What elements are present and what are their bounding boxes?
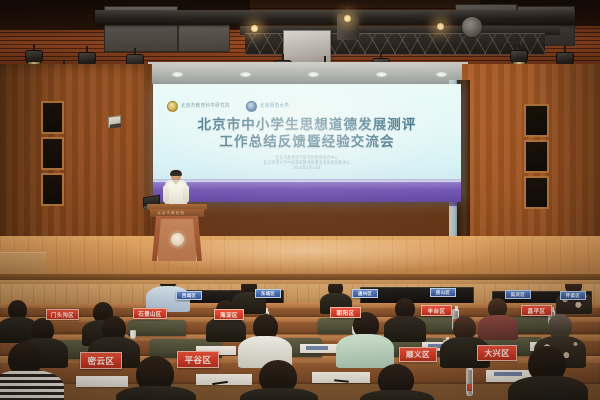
lighting-truss: [95, 10, 575, 25]
projection-screen: 北京市教育科学研究院 北京师范大学 北京市中小学生思想道德发展测评 工作总结反馈…: [153, 84, 461, 202]
district-placard-label: 东城区: [261, 291, 275, 297]
district-placard-label: 石景山区: [138, 310, 161, 318]
screen-bottom-band: [153, 182, 461, 202]
district-placard-label: 通州区: [358, 291, 372, 297]
title-line-1: 北京市中小学生思想道德发展测评: [153, 117, 461, 134]
ceiling-lamp-icon: [436, 22, 445, 31]
institute-seal-icon: [167, 101, 178, 112]
district-placard: 东城区: [255, 289, 281, 298]
rig-disc-fixture: [461, 16, 483, 38]
logo-left-label: 北京市教育科学研究院: [181, 103, 230, 110]
acoustic-panel-column-right: [524, 104, 549, 212]
recessed-light-icon: [436, 72, 447, 77]
wall-speaker-icon: [108, 115, 121, 128]
attendee-person: [336, 312, 394, 366]
district-placard: 延庆区: [505, 290, 531, 299]
district-placard-label: 海淀区: [220, 311, 238, 319]
subtitle-line-3: 2019年6月18日: [153, 166, 461, 172]
recessed-light-icon: [240, 72, 251, 77]
attendee-shoulders: [360, 390, 434, 400]
recessed-light-icon: [376, 72, 387, 77]
district-placard: 密云区: [80, 352, 122, 369]
district-placard: 平谷区: [177, 351, 219, 368]
district-placard: 通州区: [352, 289, 378, 298]
speaker-podium: 北京市教科院: [150, 204, 204, 261]
attendee-person: [240, 360, 318, 400]
logo-institute: 北京市教育科学研究院: [167, 101, 230, 112]
attendee-shoulders: [0, 370, 64, 400]
ceiling-soffit: [148, 62, 468, 84]
district-placard-label: 房山区: [436, 290, 450, 296]
district-placard: 房山区: [430, 288, 456, 297]
screen-title: 北京市中小学生思想道德发展测评 工作总结反馈暨经验交流会: [153, 117, 461, 150]
screen-subtitles: 北京市教育科学研究院德育研究中心 北京师范大学中国基础教育质量监测协同创新中心 …: [153, 156, 461, 172]
district-placard-label: 顺义区: [406, 349, 430, 360]
attendee-shoulders: [508, 376, 588, 400]
district-placard: 怀柔区: [560, 291, 586, 300]
conference-photo: 北京市教育科学研究院 北京师范大学 北京市中小学生思想道德发展测评 工作总结反馈…: [0, 0, 600, 400]
district-placard-label: 平谷区: [185, 354, 212, 366]
attendee-person: [238, 314, 292, 366]
logo-university: 北京师范大学: [246, 101, 289, 112]
district-placard-label: 延庆区: [511, 292, 525, 298]
district-placard-label: 怀柔区: [566, 293, 580, 299]
attendee-shoulders: [116, 386, 196, 400]
university-seal-icon: [246, 101, 257, 112]
district-placard: 丰台区: [421, 305, 452, 316]
podium-front-text: 北京市教科院: [157, 211, 185, 216]
attendee-person: [0, 342, 64, 400]
podium-nameplate: 北京市教科院: [150, 209, 204, 217]
attendee-person: [508, 346, 588, 400]
district-placard-label: 大兴区: [484, 348, 509, 359]
screen-logo-row: 北京市教育科学研究院 北京师范大学: [167, 100, 347, 112]
water-bottle: [466, 368, 473, 396]
institute-emblem-icon: [170, 232, 185, 247]
attendee-shoulders: [240, 388, 318, 400]
recessed-light-icon: [308, 72, 319, 77]
speaker-arm-right: [183, 185, 189, 203]
district-placard: 大兴区: [477, 345, 517, 361]
district-placard: 门头沟区: [46, 309, 79, 320]
logo-right-label: 北京师范大学: [260, 103, 289, 110]
district-placard: 海淀区: [214, 309, 244, 320]
district-placard: 朝阳区: [330, 307, 361, 318]
district-placard-label: 丰台区: [428, 307, 446, 315]
district-placard-label: 西城区: [182, 293, 196, 299]
ceiling-lamp-icon: [250, 24, 259, 33]
recessed-light-icon: [172, 72, 183, 77]
district-placard-label: 昌平区: [528, 307, 546, 315]
district-placard: 石景山区: [133, 308, 167, 319]
attendee-person: [360, 364, 434, 400]
title-line-2: 工作总结反馈暨经验交流会: [153, 134, 461, 151]
district-placard: 西城区: [176, 291, 202, 300]
ceiling-lamp-icon: [343, 14, 352, 23]
district-placard: 昌平区: [521, 305, 552, 316]
audience-area: 密云区平谷区顺义区大兴区门头沟区石景山区海淀区朝阳区丰台区昌平区西城区东城区通州…: [0, 284, 600, 400]
district-placard-label: 密云区: [88, 355, 115, 367]
district-placard: 顺义区: [399, 347, 437, 362]
acoustic-panel-column-left: [41, 101, 64, 209]
speaker-hair: [170, 170, 182, 176]
district-placard-label: 朝阳区: [337, 309, 355, 317]
district-placard-label: 门头沟区: [51, 311, 74, 319]
attendee-shoulders: [336, 334, 394, 368]
